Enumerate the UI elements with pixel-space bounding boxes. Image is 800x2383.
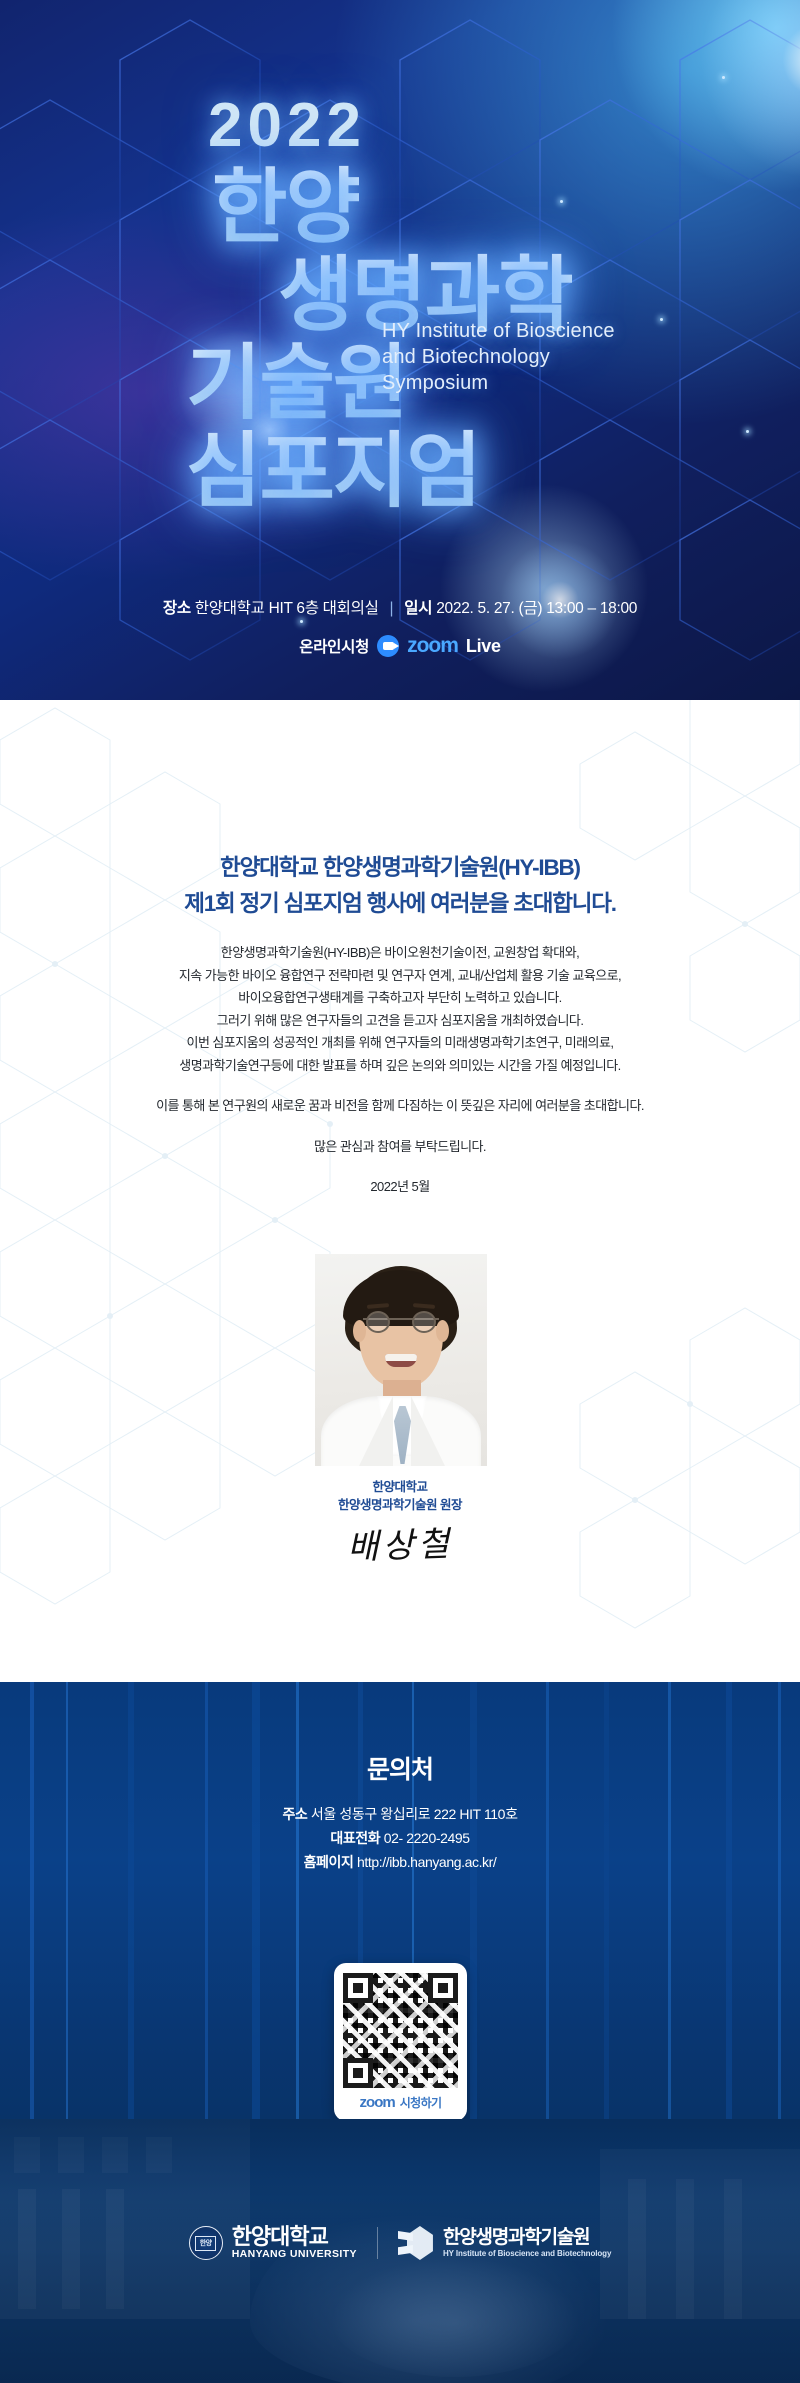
contact-phone-row: 대표전화 02- 2220-2495 (0, 1826, 800, 1850)
venue-value: 한양대학교 HIT 6층 대회의실 (195, 600, 379, 617)
invitation-heading-line-2: 제1회 정기 심포지엄 행사에 여러분을 초대합니다. (0, 886, 800, 922)
invitation-sign-date: 2022년 5월 (0, 1176, 800, 1199)
online-label: 온라인시청 (299, 635, 369, 657)
phone-value: 02- 2220-2495 (384, 1830, 470, 1846)
phone-label: 대표전화 (330, 1830, 380, 1846)
invitation-paragraph-line: 그러기 위해 많은 연구자들의 고견을 듣고자 심포지움을 개최하였습니다. (0, 1010, 800, 1033)
venue-date-row: 장소 한양대학교 HIT 6층 대회의실 | 일시 2022. 5. 27. (… (0, 598, 800, 620)
address-value: 서울 성동구 왕십리로 222 HIT 110호 (311, 1806, 518, 1822)
invitation-paragraph-line: 이번 심포지움의 성공적인 개최를 위해 연구자들의 미래생명과학기초연구, 미… (0, 1032, 800, 1055)
institute-name-kr: 한양생명과학기술원 (443, 2227, 611, 2248)
contact-title: 문의처 (0, 1750, 800, 1786)
contact-address-row: 주소 서울 성동구 왕십리로 222 HIT 110호 (0, 1802, 800, 1826)
hero-info-bar: 장소 한양대학교 HIT 6층 대회의실 | 일시 2022. 5. 27. (… (0, 598, 800, 658)
seal-text: 한양 (195, 2236, 216, 2251)
hanyang-university-logo: 한양 한양대학교 HANYANG UNIVERSITY (189, 2225, 357, 2261)
homepage-link[interactable]: http://ibb.hanyang.ac.kr/ (357, 1854, 496, 1870)
poster-root: 2022 한양 생명과학 기술원 심포지엄 HY Institute of Bi… (0, 0, 800, 2383)
footer-logos: 한양 한양대학교 HANYANG UNIVERSITY 한양생명과학기술원 HY… (0, 2225, 800, 2261)
invitation-paragraph-line: 많은 관심과 참여를 부탁드립니다. (0, 1136, 800, 1159)
invitation-paragraph-line: 지속 가능한 바이오 융합연구 전략마련 및 연구자 연계, 교내/산업체 활용… (0, 965, 800, 988)
invitation-heading: 한양대학교 한양생명과학기술원(HY-IBB) 제1회 정기 심포지엄 행사에 … (0, 850, 800, 922)
hero-title-block: 2022 한양 생명과학 기술원 심포지엄 HY Institute of Bi… (0, 0, 800, 560)
venue-label: 장소 (163, 600, 191, 617)
qr-zoom-wordmark: zoom (360, 2094, 395, 2111)
address-label: 주소 (282, 1806, 307, 1822)
institute-name-en: HY Institute of Bioscience and Biotechno… (443, 2248, 611, 2259)
qr-caption: zoom 시청하기 (343, 2094, 458, 2111)
ibb-institute-logo: 한양생명과학기술원 HY Institute of Bioscience and… (398, 2226, 611, 2260)
contact-homepage-row: 홈페이지 http://ibb.hanyang.ac.kr/ (0, 1850, 800, 1874)
hero-section: 2022 한양 생명과학 기술원 심포지엄 HY Institute of Bi… (0, 0, 800, 700)
ibb-hexagon-icon (398, 2226, 434, 2260)
zoom-live-label: Live (466, 636, 501, 657)
invitation-paragraph-line: 바이오융합연구생태계를 구축하고자 부단히 노력하고 있습니다. (0, 987, 800, 1010)
signer-affiliation-line-1: 한양대학교 (0, 1478, 800, 1496)
invitation-body: 한양생명과학기술원(HY-IBB)은 바이오원천기술이전, 교원창업 확대와, … (0, 942, 800, 1199)
info-separator: | (390, 600, 394, 617)
hero-subtitle-english: HY Institute of Bioscience and Biotechno… (382, 318, 615, 396)
invitation-heading-line-1: 한양대학교 한양생명과학기술원(HY-IBB) (0, 850, 800, 886)
hero-title-line-4: 심포지엄 (186, 404, 480, 523)
invitation-paragraph-line: 한양생명과학기술원(HY-IBB)은 바이오원천기술이전, 교원창업 확대와, (0, 942, 800, 965)
date-value: 2022. 5. 27. (금) 13:00 – 18:00 (436, 600, 637, 617)
university-name-kr: 한양대학교 (232, 2225, 357, 2248)
zoom-qr-card[interactable]: zoom 시청하기 (334, 1963, 467, 2121)
video-camera-icon (377, 635, 399, 657)
contact-details: 주소 서울 성동구 왕십리로 222 HIT 110호 대표전화 02- 222… (0, 1802, 800, 1874)
zoom-wordmark: zoom (407, 634, 458, 658)
director-portrait-photo (315, 1254, 487, 1466)
logo-divider (377, 2227, 378, 2259)
qr-code-image[interactable] (343, 1973, 458, 2088)
university-name-en: HANYANG UNIVERSITY (232, 2248, 357, 2261)
online-viewing-row: 온라인시청 zoom Live (0, 634, 800, 658)
homepage-label: 홈페이지 (304, 1854, 354, 1870)
invitation-paragraph-line: 생명과학기술연구등에 대한 발표를 하며 깊은 논의와 의미있는 시간을 가질 … (0, 1055, 800, 1078)
qr-zoom-action-label: 시청하기 (400, 2094, 442, 2111)
date-label: 일시 (404, 600, 432, 617)
invitation-paragraph-line: 이를 통해 본 연구원의 새로운 꿈과 비전을 함께 다짐하는 이 뜻깊은 자리… (0, 1095, 800, 1118)
university-seal-icon: 한양 (189, 2226, 223, 2260)
